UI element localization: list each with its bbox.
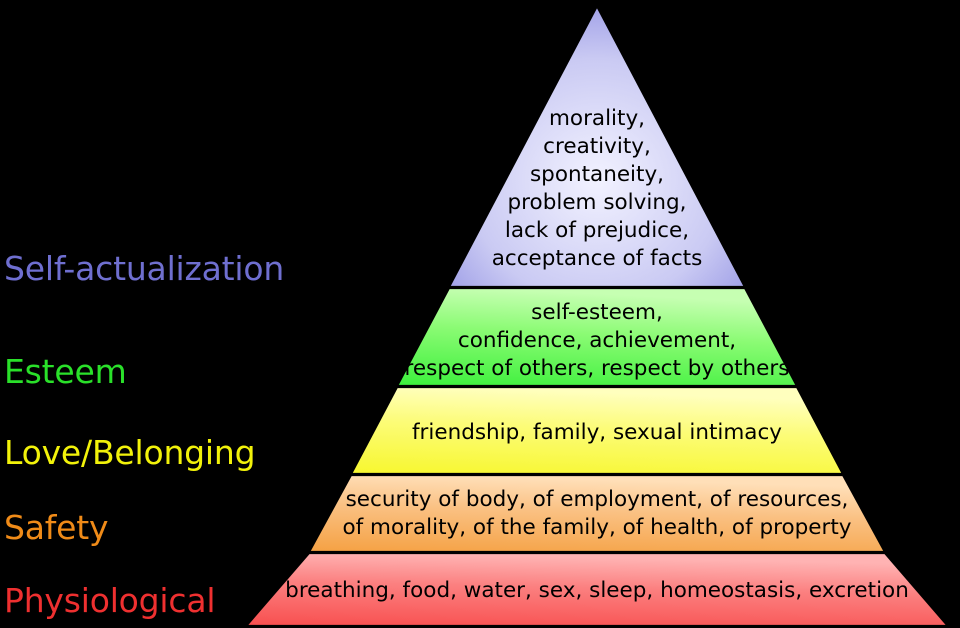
pyramid-tier-physiological[interactable]: breathing, food, water, sex, sleep, home…	[246, 553, 948, 626]
tier-line: respect of others, respect by others	[405, 356, 790, 381]
tier-line: lack of prejudice,	[505, 218, 689, 243]
tier-line: friendship, family, sexual intimacy	[412, 420, 782, 445]
tier-line: creativity,	[543, 134, 651, 159]
tier-line: security of body, of employment, of reso…	[346, 487, 849, 512]
tier-line: morality,	[549, 106, 645, 131]
tier-line: of morality, of the family, of health, o…	[342, 515, 851, 540]
tier-label-self-actualization: Self-actualization	[4, 252, 284, 285]
tier-label-physiological: Physiological	[4, 584, 215, 617]
pyramid-graphic: morality, creativity, spontaneity, probl…	[0, 0, 960, 628]
tier-label-esteem: Esteem	[4, 355, 127, 388]
pyramid-tier-self-actualization[interactable]: morality, creativity, spontaneity, probl…	[449, 6, 745, 287]
tier-line: problem solving,	[508, 190, 687, 215]
maslow-hierarchy-diagram: morality, creativity, spontaneity, probl…	[0, 0, 960, 628]
tier-label-love-belonging: Love/Belonging	[4, 436, 255, 469]
tier-line: self-esteem,	[531, 300, 663, 325]
pyramid-tier-safety[interactable]: security of body, of employment, of reso…	[309, 475, 885, 552]
tier-line: acceptance of facts	[492, 246, 703, 271]
pyramid-tier-esteem[interactable]: self-esteem, confidence, achievement, re…	[397, 288, 797, 386]
tier-line: breathing, food, water, sex, sleep, home…	[285, 578, 909, 603]
pyramid-tier-love-belonging[interactable]: friendship, family, sexual intimacy	[351, 387, 843, 474]
tier-label-safety: Safety	[4, 511, 108, 544]
tier-line: confidence, achievement,	[458, 328, 736, 353]
tier-line: spontaneity,	[530, 162, 664, 187]
